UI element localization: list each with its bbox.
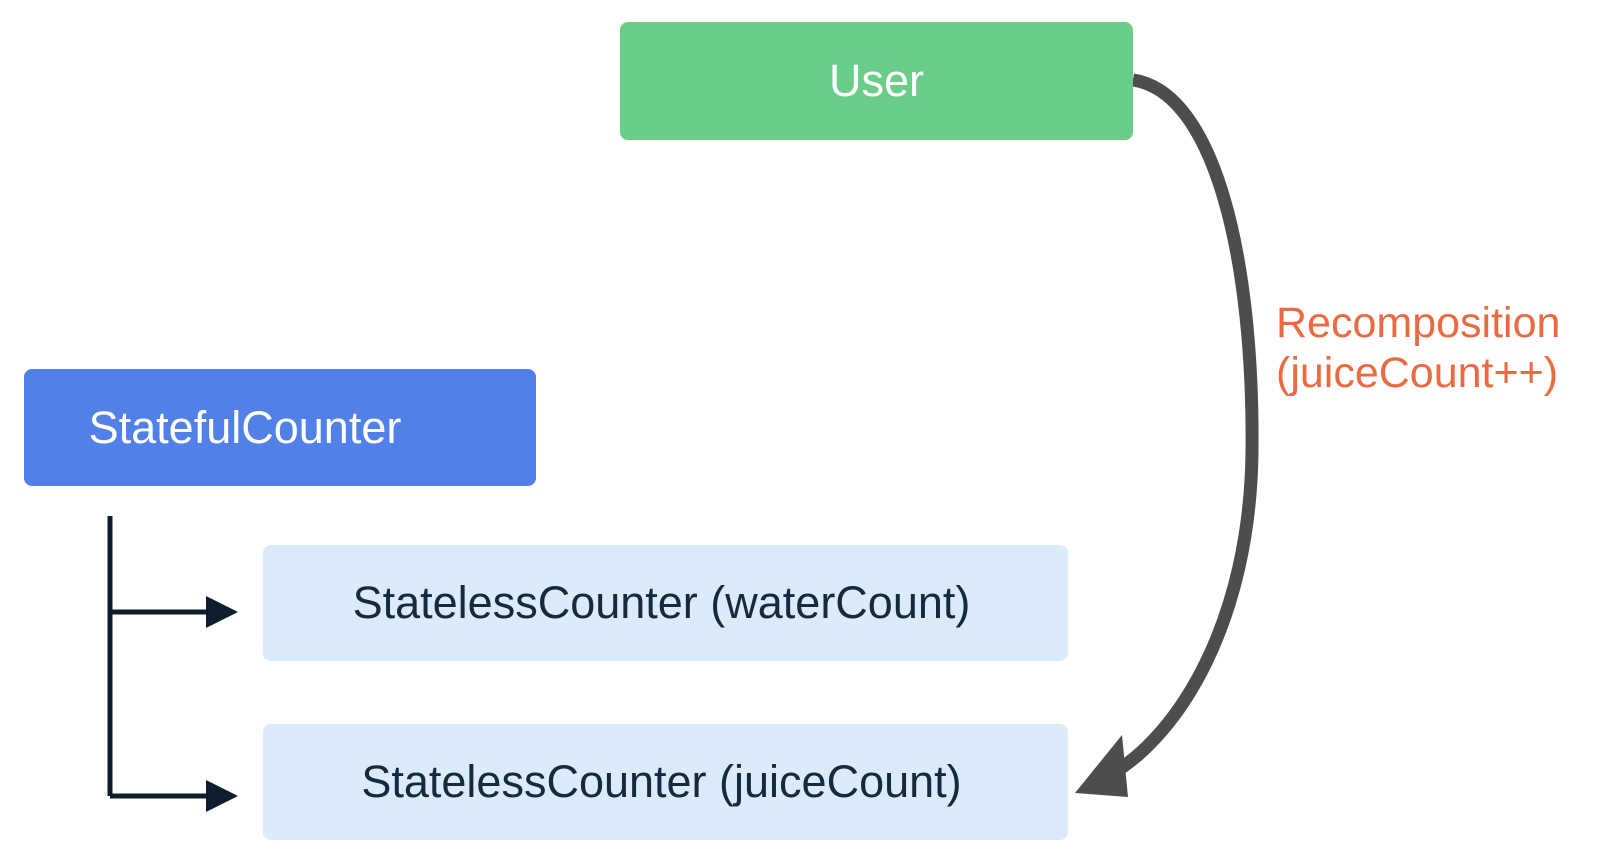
node-stateless-counter-juice-label: StatelessCounter (juiceCount) — [263, 757, 1068, 807]
edge-stateful-to-juice — [110, 780, 238, 812]
edge-stateful-to-water — [110, 596, 238, 628]
node-stateful-counter-label: StatefulCounter — [24, 403, 536, 453]
node-user-label: User — [620, 56, 1133, 106]
recomposition-annotation-line2: (juiceCount++) — [1276, 348, 1600, 398]
recomposition-annotation: Recomposition (juiceCount++) — [1276, 298, 1600, 398]
node-stateless-counter-juice[interactable]: StatelessCounter (juiceCount) — [263, 724, 1068, 840]
node-stateful-counter[interactable]: StatefulCounter — [24, 369, 536, 486]
edge-user-to-juice — [1075, 80, 1252, 797]
recomposition-annotation-line1: Recomposition — [1276, 298, 1600, 348]
node-stateless-counter-water[interactable]: StatelessCounter (waterCount) — [263, 545, 1068, 661]
node-user[interactable]: User — [620, 22, 1133, 140]
diagram-canvas: User StatefulCounter StatelessCounter (w… — [0, 0, 1600, 867]
node-stateless-counter-water-label: StatelessCounter (waterCount) — [263, 578, 1068, 628]
